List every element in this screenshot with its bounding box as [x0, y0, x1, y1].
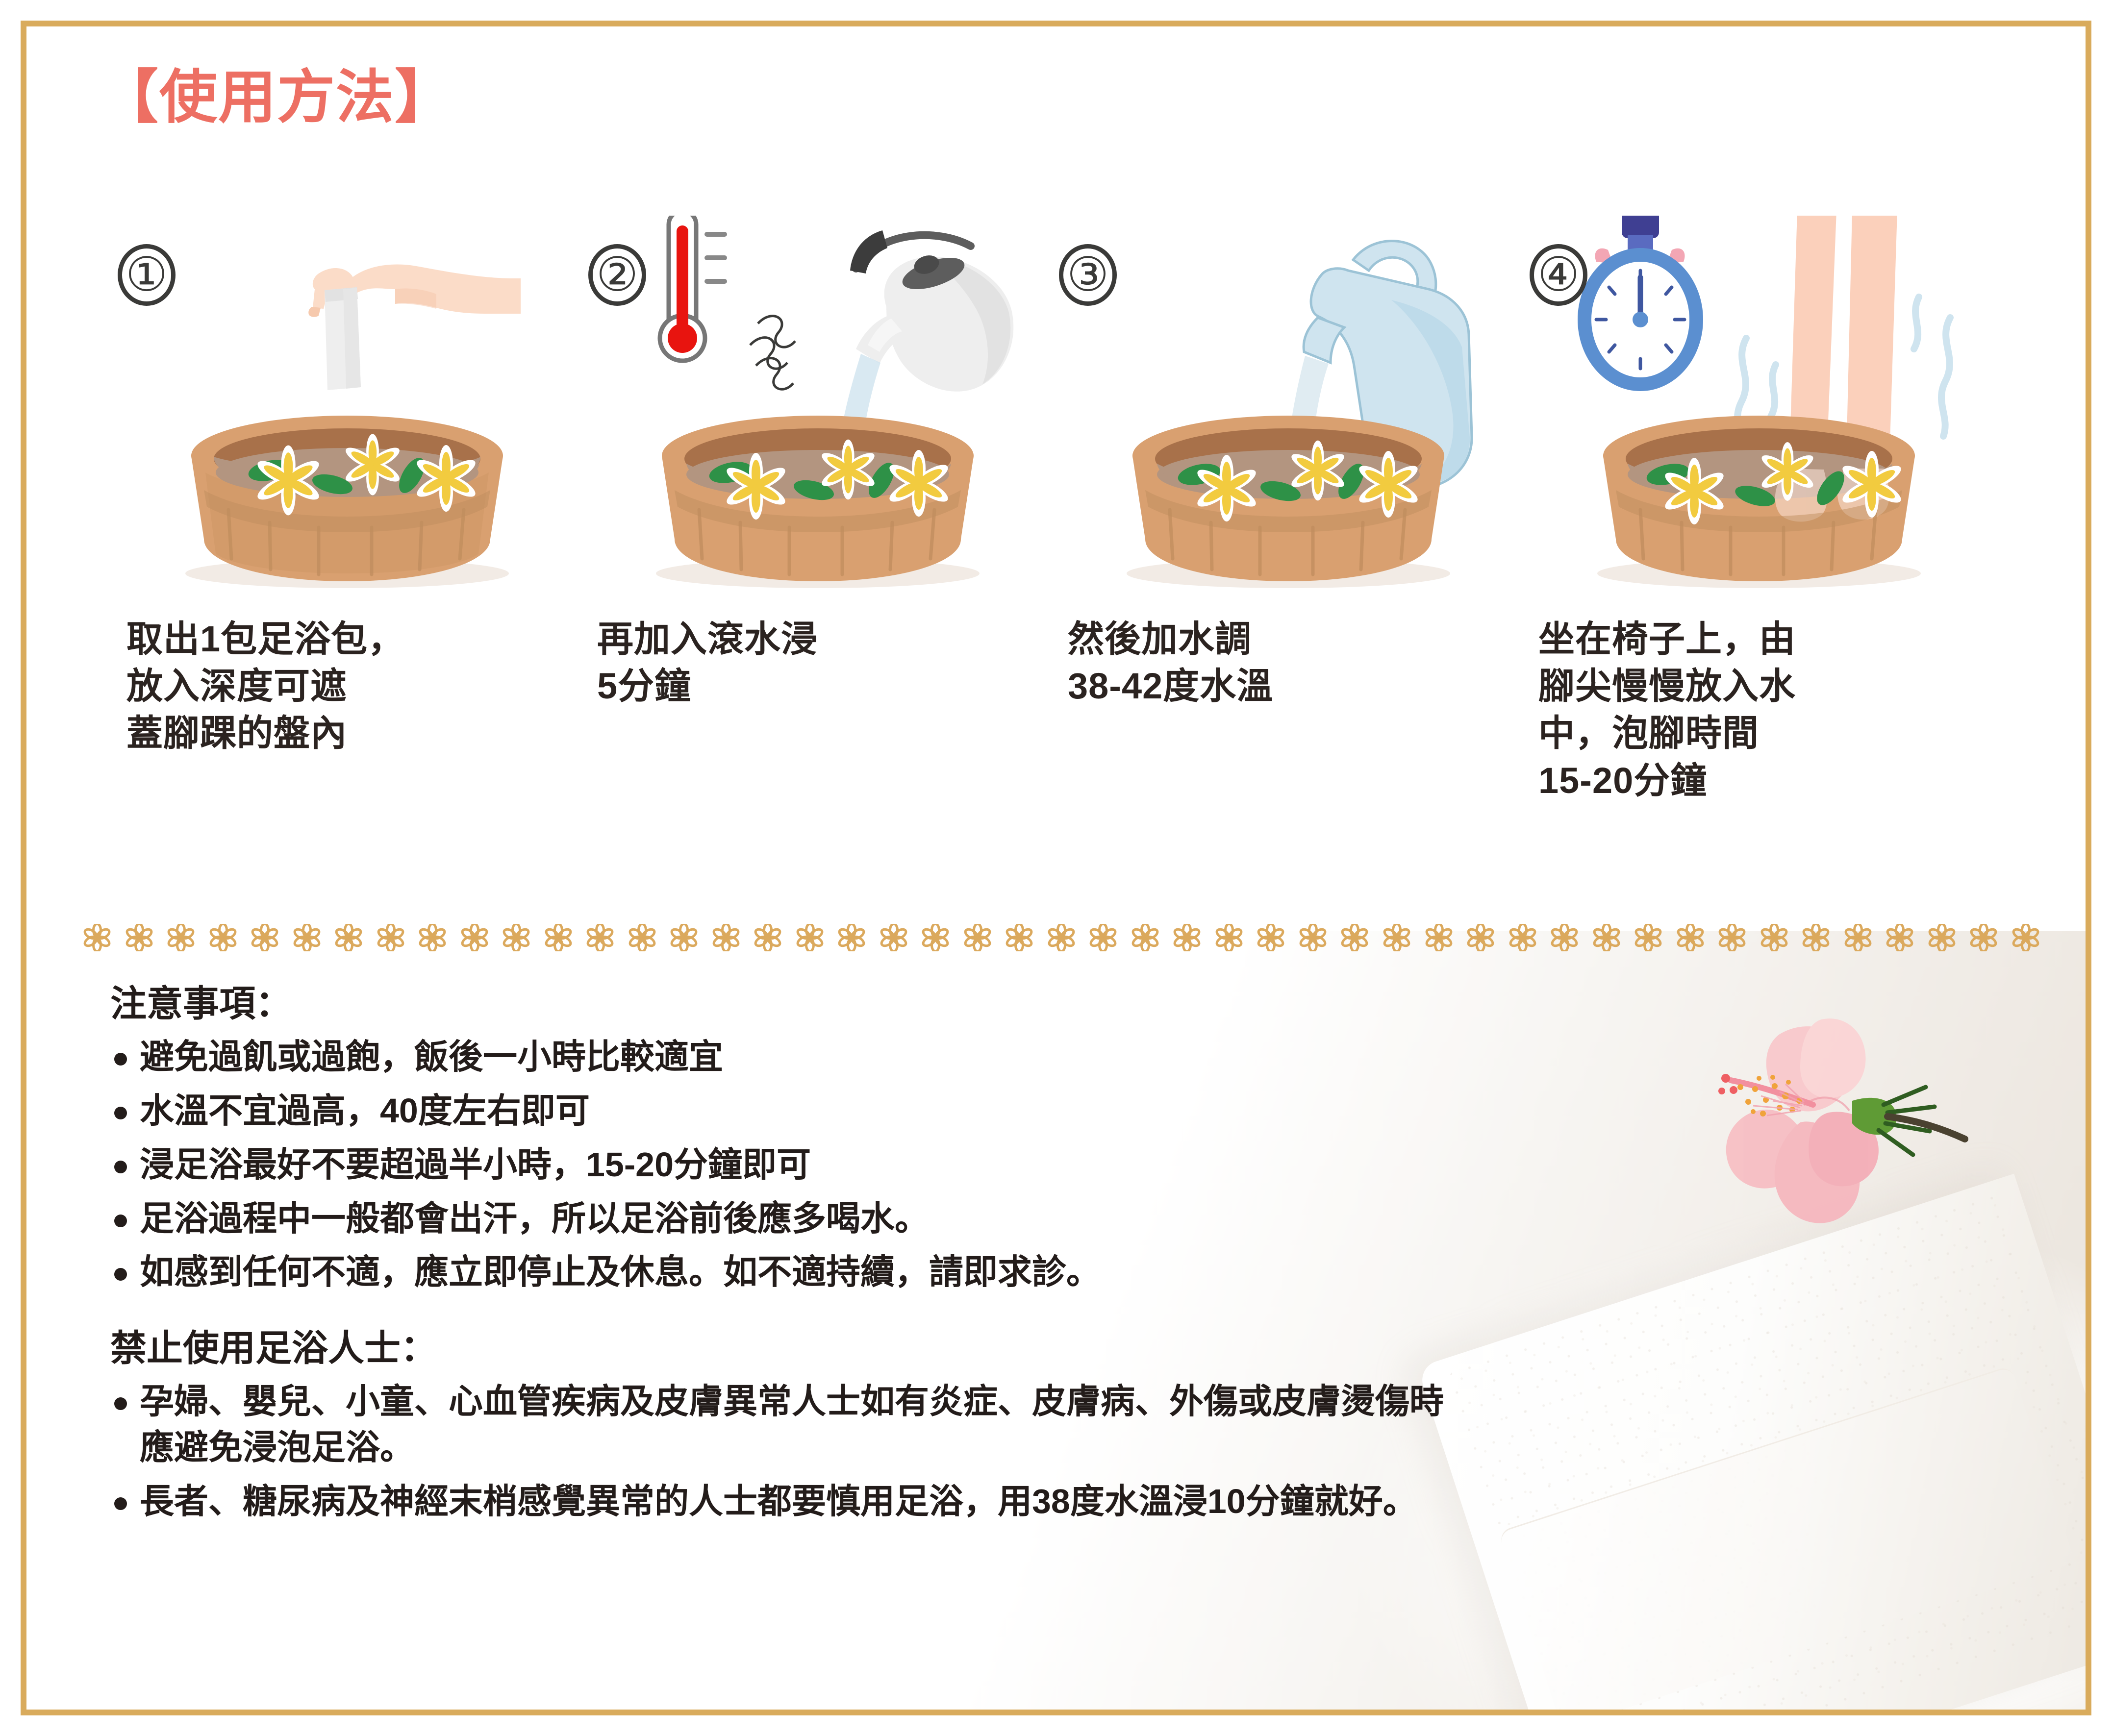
- divider-flower-icon: [1299, 924, 1327, 951]
- divider-flower-icon: [377, 924, 404, 951]
- divider-flower-icon: [1593, 924, 1620, 951]
- step-1-line-3: 蓋腳踝的盤內: [126, 710, 558, 757]
- divider-flower-icon: [126, 924, 153, 951]
- divider-flower-icon: [880, 924, 907, 951]
- step-1-number: ①: [118, 244, 176, 306]
- foot-bath-tub-icon: [1597, 416, 1921, 588]
- step-2-illustration: ②: [583, 216, 1054, 613]
- step-4-illustration: ④: [1525, 216, 1995, 613]
- list-item: 水溫不宜過高，40度左右即可: [105, 1088, 2008, 1134]
- divider-flower-icon: [1006, 924, 1033, 951]
- divider-flower-icon: [1341, 924, 1368, 951]
- step-3-caption: 然後加水調 38-42度水溫: [1054, 616, 1499, 710]
- stopwatch-icon: [1578, 216, 1703, 391]
- divider-flower-icon: [1383, 924, 1410, 951]
- divider-flower-icon: [1634, 924, 1662, 951]
- list-item: 足浴過程中一般都會出汗，所以足浴前後應多喝水。: [105, 1196, 2008, 1242]
- step-4-line-1: 坐在椅子上，由: [1538, 616, 1970, 663]
- divider-flower-icon: [838, 924, 865, 951]
- step-2-number: ②: [588, 244, 646, 306]
- divider-flower-icon: [1215, 924, 1243, 951]
- step-4-number: ④: [1530, 244, 1587, 306]
- foot-bath-tub-icon: [185, 416, 509, 588]
- divider-flower-icon: [1509, 924, 1536, 951]
- divider-flower-icon: [1257, 924, 1284, 951]
- page-title: 【使用方法】: [101, 69, 453, 126]
- step-1-line-1: 取出1包足浴包，: [126, 616, 558, 663]
- steps-row: ①: [113, 216, 2000, 804]
- section-gap: [105, 1303, 2008, 1325]
- divider-flower-icon: [1467, 924, 1494, 951]
- list-item: 浸足浴最好不要超過半小時，15-20分鐘即可: [105, 1142, 2008, 1188]
- step-2-line-1: 再加入滾水浸: [597, 616, 1029, 663]
- divider-flower-icon: [629, 924, 656, 951]
- divider-flower-icon: [586, 924, 614, 951]
- usage-instructions-poster: 【使用方法】 ①: [0, 0, 2112, 1736]
- step-2: ②: [583, 216, 1054, 804]
- divider-flower-icon: [1718, 924, 1746, 951]
- step-3-number: ③: [1059, 244, 1117, 306]
- step-2-line-2: 5分鐘: [597, 663, 1029, 710]
- floral-divider: [83, 911, 2039, 965]
- step-1-line-2: 放入深度可遮: [126, 663, 558, 710]
- divider-flower-icon: [922, 924, 949, 951]
- divider-flower-icon: [545, 924, 572, 951]
- divider-flower-icon: [1131, 924, 1159, 951]
- step-4-caption: 坐在椅子上，由 腳尖慢慢放入水 中，泡腳時間 15-20分鐘: [1525, 616, 1970, 804]
- step-4-line-2: 腳尖慢慢放入水: [1538, 663, 1970, 710]
- notes-heading: 注意事項：: [105, 980, 2008, 1027]
- divider-flower-icon: [1802, 924, 1830, 951]
- foot-bath-tub-icon: [656, 416, 980, 588]
- divider-flower-icon: [796, 924, 824, 951]
- divider-flower-icon: [1551, 924, 1578, 951]
- divider-flower-icon: [2012, 924, 2039, 951]
- divider-flower-icon: [964, 924, 991, 951]
- list-item: 如感到任何不適，應立即停止及休息。如不適持續，請即求診。: [105, 1249, 2008, 1295]
- divider-flower-icon: [712, 924, 740, 951]
- divider-flower-icon: [1677, 924, 1704, 951]
- step-3: ③: [1054, 216, 1525, 804]
- step-4-line-3: 中，泡腳時間: [1538, 710, 1970, 757]
- divider-flower-icon: [335, 924, 362, 951]
- sachet-icon: [325, 287, 361, 390]
- divider-flower-icon: [1760, 924, 1788, 951]
- restrictions-list: 孕婦、嬰兒、小童、心血管疾病及皮膚異常人士如有炎症、皮膚病、外傷或皮膚燙傷時 應…: [105, 1379, 2008, 1524]
- step-4-line-4: 15-20分鐘: [1538, 757, 1970, 804]
- list-item: 避免過飢或過飽，飯後一小時比較適宜: [105, 1034, 2008, 1080]
- divider-flower-icon: [293, 924, 321, 951]
- step-4: ④: [1525, 216, 1995, 804]
- notes-list: 避免過飢或過飽，飯後一小時比較適宜 水溫不宜過高，40度左右即可 浸足浴最好不要…: [105, 1034, 2008, 1295]
- step-2-caption: 再加入滾水浸 5分鐘: [583, 616, 1029, 710]
- step-3-illustration: ③: [1054, 216, 1525, 613]
- list-item: 孕婦、嬰兒、小童、心血管疾病及皮膚異常人士如有炎症、皮膚病、外傷或皮膚燙傷時 應…: [105, 1379, 2008, 1471]
- divider-flower-icon: [1886, 924, 1913, 951]
- step-1-illustration: ①: [113, 216, 583, 613]
- divider-flower-icon: [1928, 924, 1956, 951]
- foot-bath-tub-icon: [1127, 416, 1450, 588]
- list-item: 長者、糖尿病及神經末梢感覺異常的人士都要慎用足浴，用38度水溫浸10分鐘就好。: [105, 1479, 2008, 1525]
- step-1: ①: [113, 216, 583, 804]
- divider-flower-icon: [1048, 924, 1075, 951]
- restriction-1-cont: 應避免浸泡足浴。: [140, 1428, 414, 1466]
- divider-flower-icon: [670, 924, 698, 951]
- divider-flower-icon: [1844, 924, 1872, 951]
- divider-flower-icon: [167, 924, 195, 951]
- steam-icon: [750, 316, 795, 390]
- restrictions-heading: 禁止使用足浴人士：: [105, 1325, 2008, 1372]
- divider-flower-icon: [461, 924, 488, 951]
- divider-flower-icon: [251, 924, 278, 951]
- divider-flower-icon: [1425, 924, 1453, 951]
- divider-flower-icon: [754, 924, 781, 951]
- restriction-1-main: 孕婦、嬰兒、小童、心血管疾病及皮膚異常人士如有炎症、皮膚病、外傷或皮膚燙傷時: [140, 1379, 2008, 1425]
- notes-section: 注意事項： 避免過飢或過飽，飯後一小時比較適宜 水溫不宜過高，40度左右即可 浸…: [105, 980, 2008, 1533]
- divider-flower-icon: [419, 924, 446, 951]
- step-3-line-1: 然後加水調: [1068, 616, 1499, 663]
- thermometer-icon: [660, 216, 725, 361]
- divider-flower-icon: [1089, 924, 1117, 951]
- divider-flower-icon: [1173, 924, 1201, 951]
- divider-flower-icon: [1970, 924, 1997, 951]
- divider-flower-icon: [83, 924, 111, 951]
- step-3-line-2: 38-42度水溫: [1068, 663, 1499, 710]
- divider-flower-icon: [503, 924, 530, 951]
- divider-flower-icon: [209, 924, 237, 951]
- step-1-caption: 取出1包足浴包， 放入深度可遮 蓋腳踝的盤內: [113, 616, 558, 757]
